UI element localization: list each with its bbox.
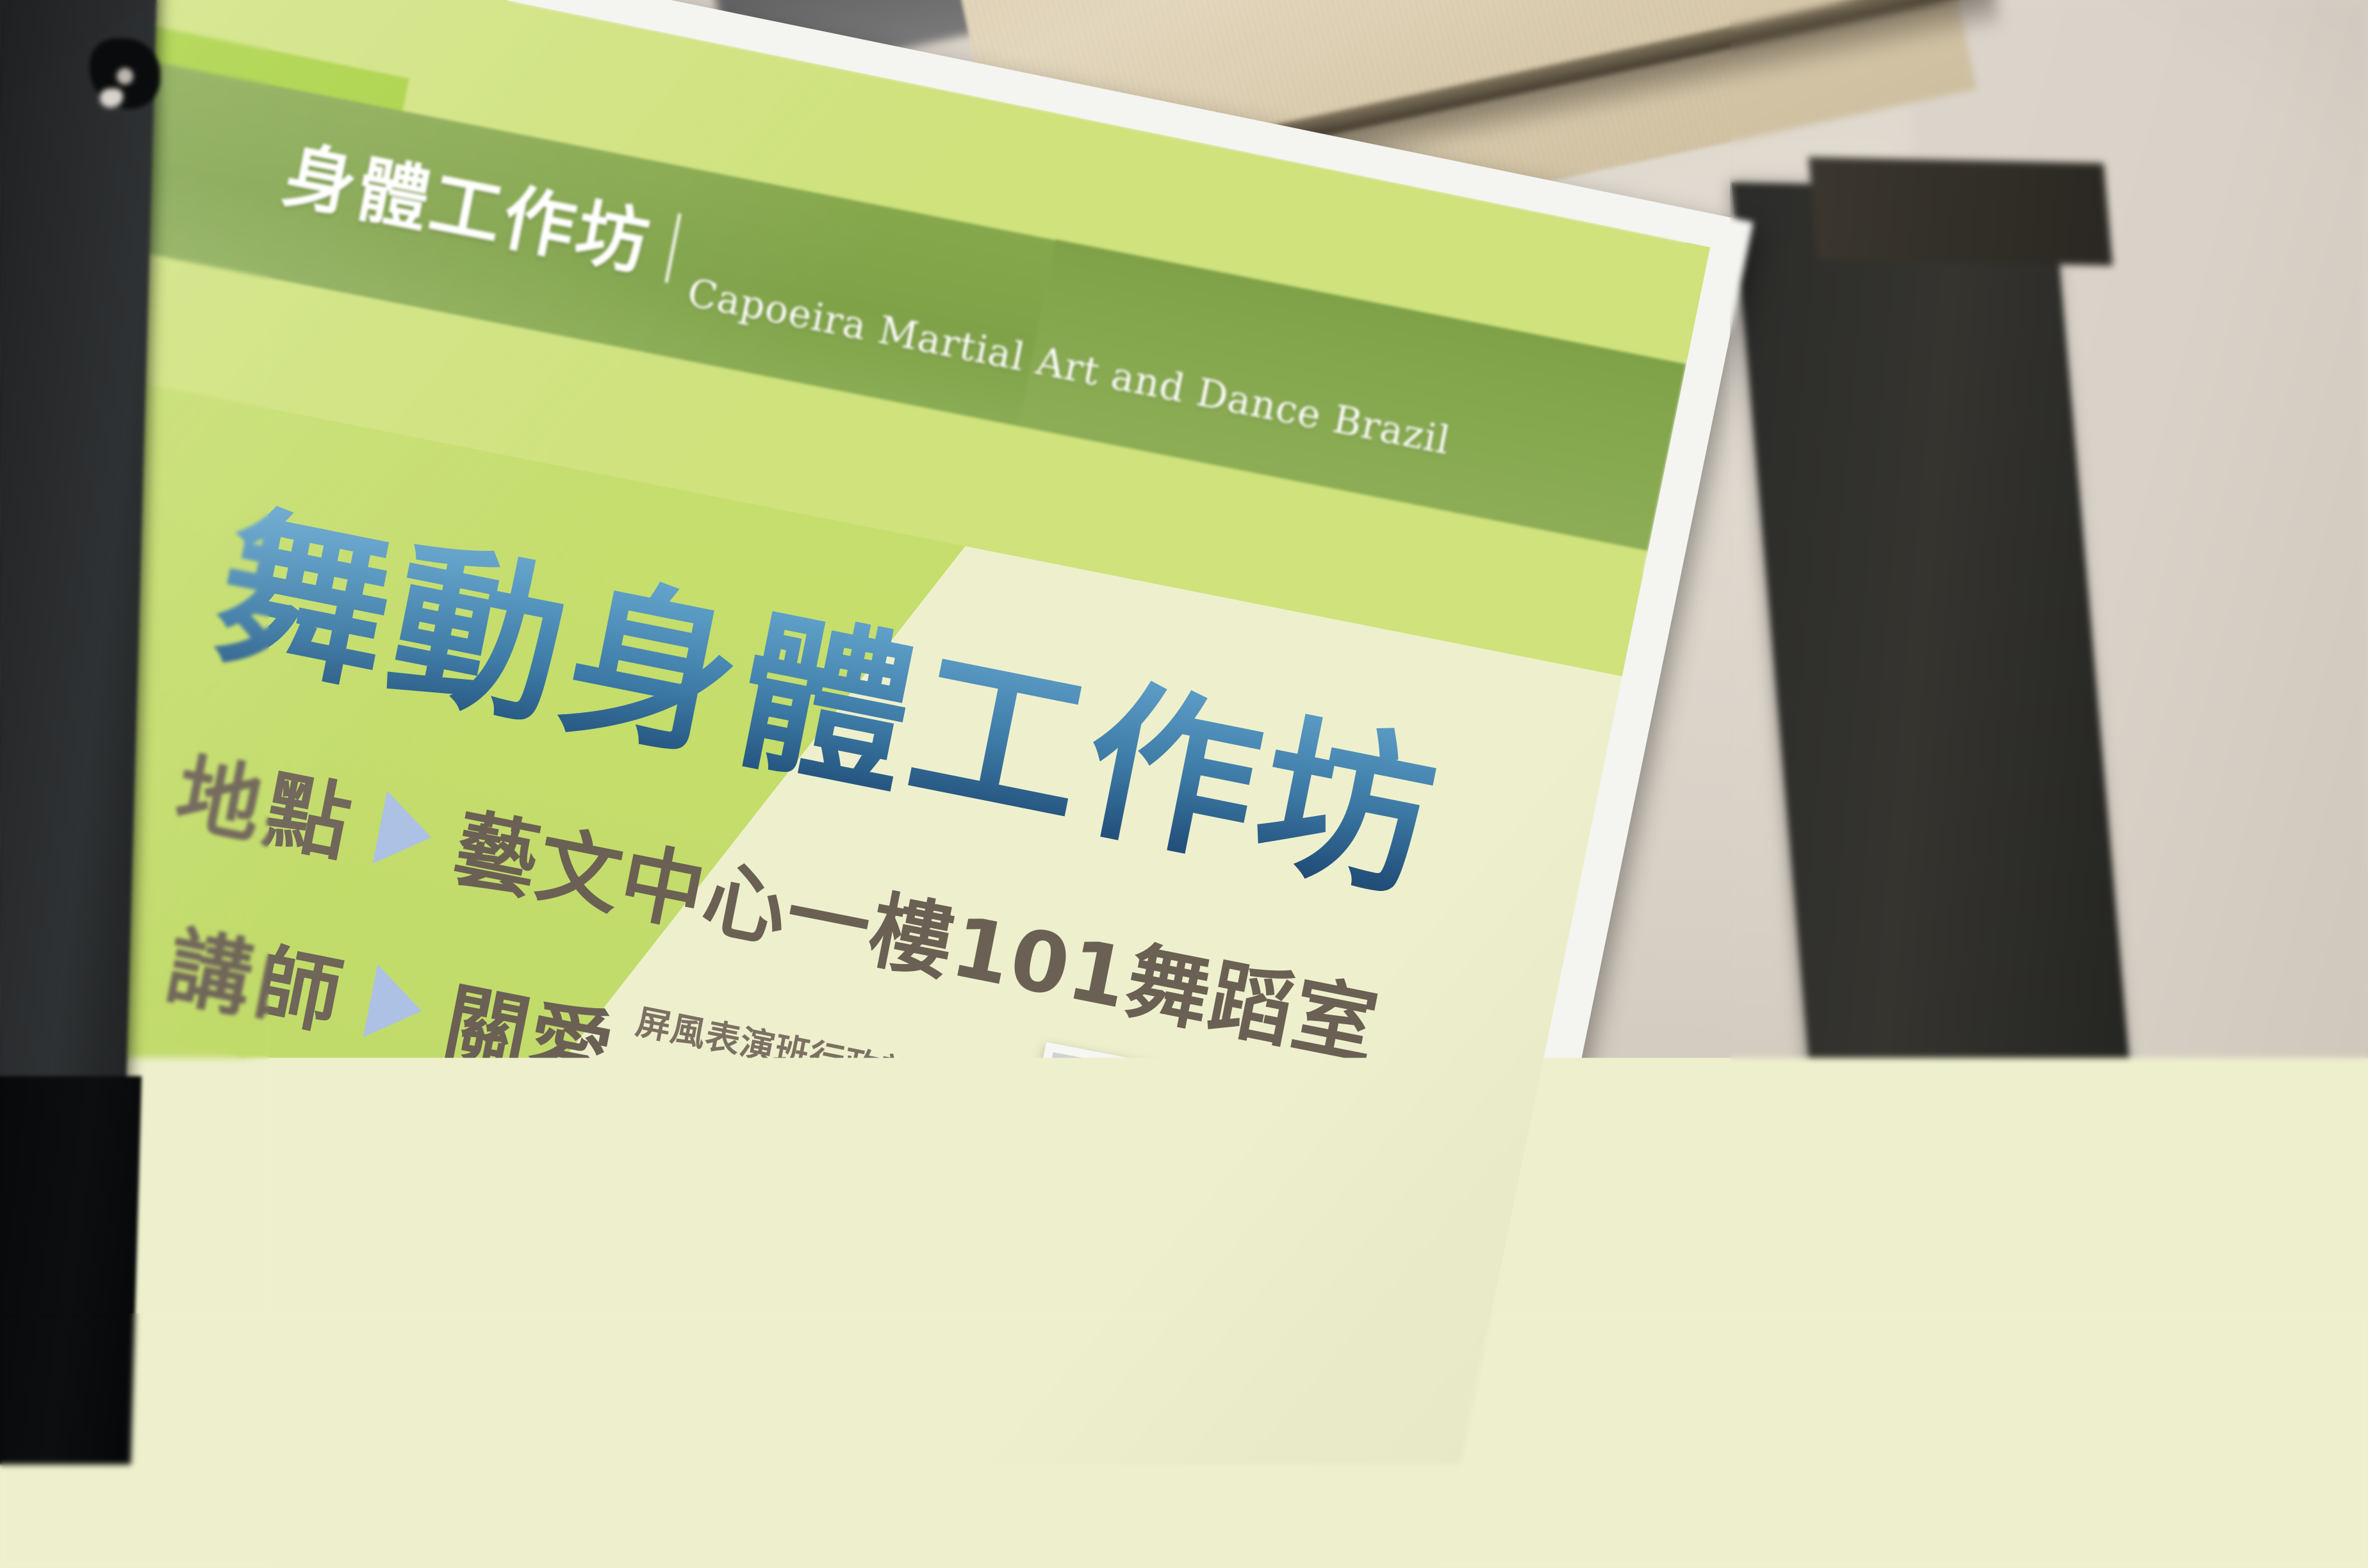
photo-scene: 身體工作坊 Capoeira Martial Art and Dance Bra… bbox=[0, 0, 2368, 1568]
header-divider bbox=[664, 213, 681, 283]
workshop-poster: 身體工作坊 Capoeira Martial Art and Dance Bra… bbox=[0, 0, 1753, 1568]
display-board-left-lower bbox=[0, 1076, 142, 1568]
board-surface-mark bbox=[90, 38, 160, 109]
poster-artwork: 身體工作坊 Capoeira Martial Art and Dance Bra… bbox=[0, 0, 1710, 1568]
triangle-right-icon bbox=[373, 790, 439, 874]
display-board-right-top bbox=[1809, 157, 2113, 266]
workshop-photo-thumbnail bbox=[958, 1041, 1454, 1568]
triangle-right-icon bbox=[363, 964, 429, 1047]
